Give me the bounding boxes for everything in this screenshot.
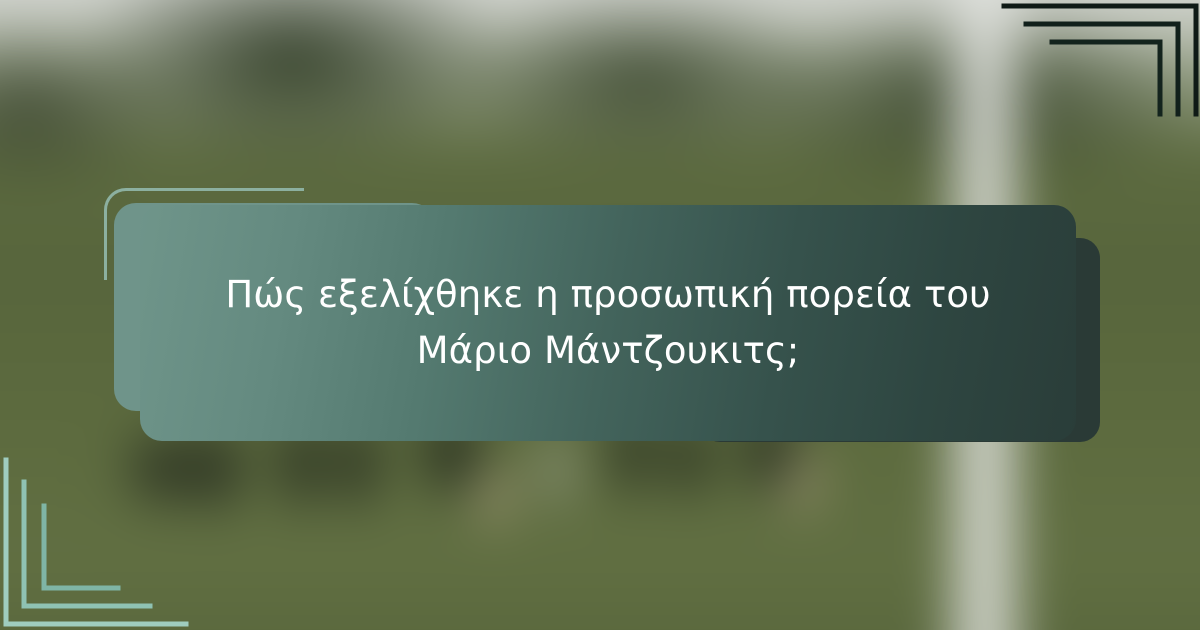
page-title: Πώς εξελίχθηκε η προσωπική πορεία του Μά… [140,267,1076,379]
headline-card: Πώς εξελίχθηκε η προσωπική πορεία του Μά… [140,205,1076,441]
social-card-canvas: Πώς εξελίχθηκε η προσωπική πορεία του Μά… [0,0,1200,630]
